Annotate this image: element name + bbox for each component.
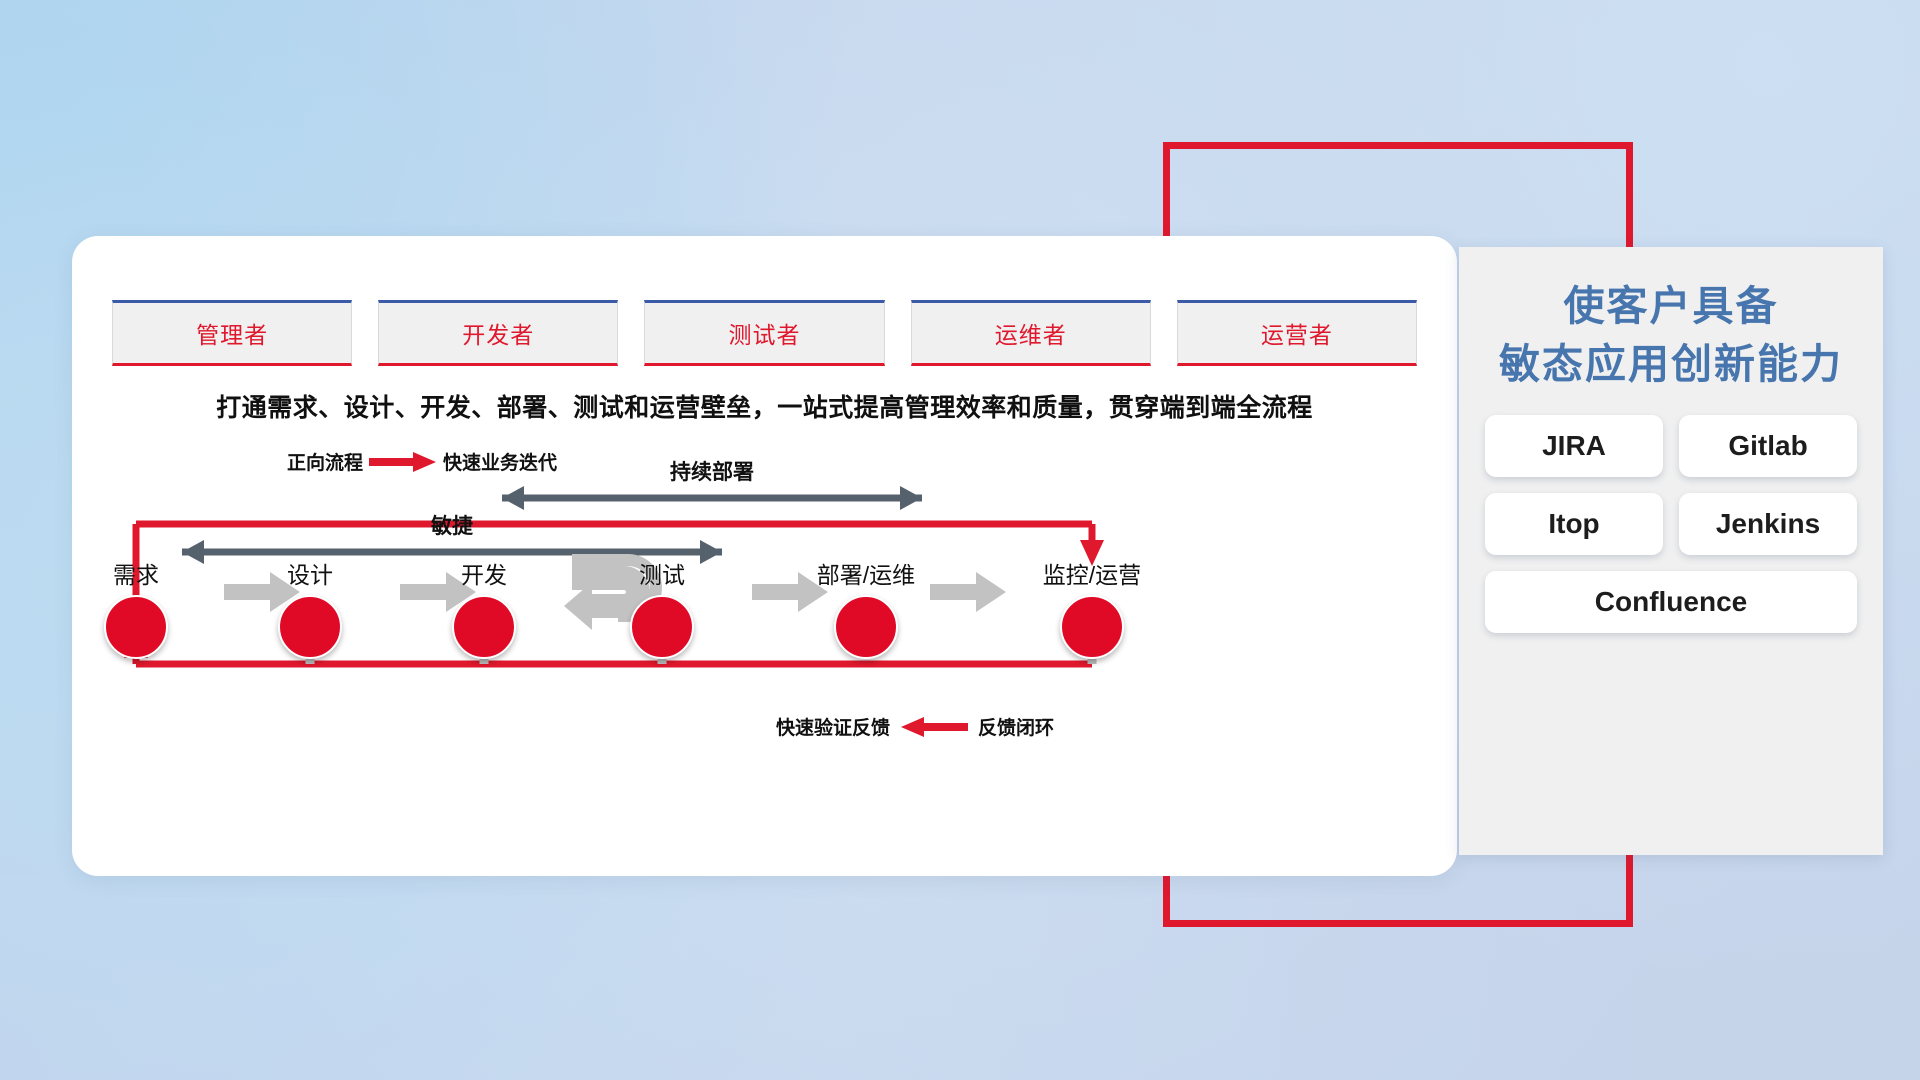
measure-label-continuous-deployment: 持续部署 — [632, 456, 792, 486]
panel-title-line1: 使客户具备 — [1485, 277, 1857, 335]
panel-title-line2: 敏态应用创新能力 — [1485, 335, 1857, 393]
description-text: 打通需求、设计、开发、部署、测试和运营壁垒，一站式提高管理效率和质量，贯穿端到端… — [112, 388, 1417, 424]
stage-dot-icon — [834, 595, 898, 659]
role-label: 运维者 — [995, 316, 1067, 350]
legend-forward-source-label: 正向流程 — [287, 448, 363, 475]
red-right-arrow-icon — [369, 451, 437, 473]
role-label: 开发者 — [462, 316, 534, 350]
measure-label-agile: 敏捷 — [372, 510, 532, 540]
red-left-arrow-icon — [900, 716, 968, 738]
measure-bar-continuous-deployment — [502, 486, 922, 510]
role-box-manager[interactable]: 管理者 — [112, 300, 352, 366]
role-box-row: 管理者 开发者 测试者 运维者 运营者 — [112, 300, 1417, 366]
tool-chip-jira[interactable]: JIRA — [1485, 415, 1663, 477]
legend-feedback-target-label: 快速验证反馈 — [776, 713, 890, 740]
tool-chip-label: JIRA — [1542, 430, 1606, 462]
pipeline-stage-monitor-operate[interactable]: 监控/运营 — [1032, 556, 1152, 659]
role-box-operations[interactable]: 运维者 — [911, 300, 1151, 366]
stage-label: 监控/运营 — [1032, 556, 1152, 590]
stage-dot-icon — [630, 595, 694, 659]
value-proposition-panel: 使客户具备 敏态应用创新能力 JIRA Gitlab Itop Jenkins … — [1459, 247, 1883, 855]
panel-title: 使客户具备 敏态应用创新能力 — [1485, 277, 1857, 393]
stage-dot-icon — [278, 595, 342, 659]
pipeline-stage-design[interactable]: 设计 — [250, 556, 370, 659]
stage-label: 测试 — [602, 556, 722, 590]
stage-dot-icon — [104, 595, 168, 659]
stage-dot-icon — [1060, 595, 1124, 659]
stage-dot-icon — [452, 595, 516, 659]
stage-label: 设计 — [250, 556, 370, 590]
legend-forward-flow: 正向流程 快速业务迭代 — [287, 448, 557, 475]
pipeline-stage-development[interactable]: 开发 — [424, 556, 544, 659]
main-diagram-card: 管理者 开发者 测试者 运维者 运营者 打通需求、设计、开发、部署、测试和运营壁… — [72, 236, 1457, 876]
tool-chip-label: Gitlab — [1728, 430, 1807, 462]
pipeline-stage-requirement[interactable]: 需求 — [76, 556, 196, 659]
role-label: 运营者 — [1261, 316, 1333, 350]
role-box-developer[interactable]: 开发者 — [378, 300, 618, 366]
tool-chip-jenkins[interactable]: Jenkins — [1679, 493, 1857, 555]
tool-chip-label: Jenkins — [1716, 508, 1820, 540]
tool-chip-list: JIRA Gitlab Itop Jenkins Confluence — [1485, 415, 1857, 633]
legend-feedback-source-label: 反馈闭环 — [978, 713, 1054, 740]
role-label: 管理者 — [196, 316, 268, 350]
stage-label: 部署/运维 — [806, 556, 926, 590]
role-label: 测试者 — [729, 316, 801, 350]
pipeline-stage-deploy-ops[interactable]: 部署/运维 — [806, 556, 926, 659]
pipeline-stage-test[interactable]: 测试 — [602, 556, 722, 659]
legend-forward-target-label: 快速业务迭代 — [443, 448, 557, 475]
role-box-tester[interactable]: 测试者 — [644, 300, 884, 366]
stage-label: 需求 — [76, 556, 196, 590]
tool-chip-gitlab[interactable]: Gitlab — [1679, 415, 1857, 477]
tool-chip-label: Itop — [1548, 508, 1599, 540]
tool-chip-itop[interactable]: Itop — [1485, 493, 1663, 555]
legend-feedback-loop: 快速验证反馈 反馈闭环 — [776, 713, 1054, 740]
tool-chip-label: Confluence — [1595, 586, 1747, 618]
slide-canvas: 管理者 开发者 测试者 运维者 运营者 打通需求、设计、开发、部署、测试和运营壁… — [0, 0, 1920, 1080]
tool-chip-confluence[interactable]: Confluence — [1485, 571, 1857, 633]
stage-label: 开发 — [424, 556, 544, 590]
role-box-business-operations[interactable]: 运营者 — [1177, 300, 1417, 366]
gray-arrow-5 — [930, 572, 1006, 612]
